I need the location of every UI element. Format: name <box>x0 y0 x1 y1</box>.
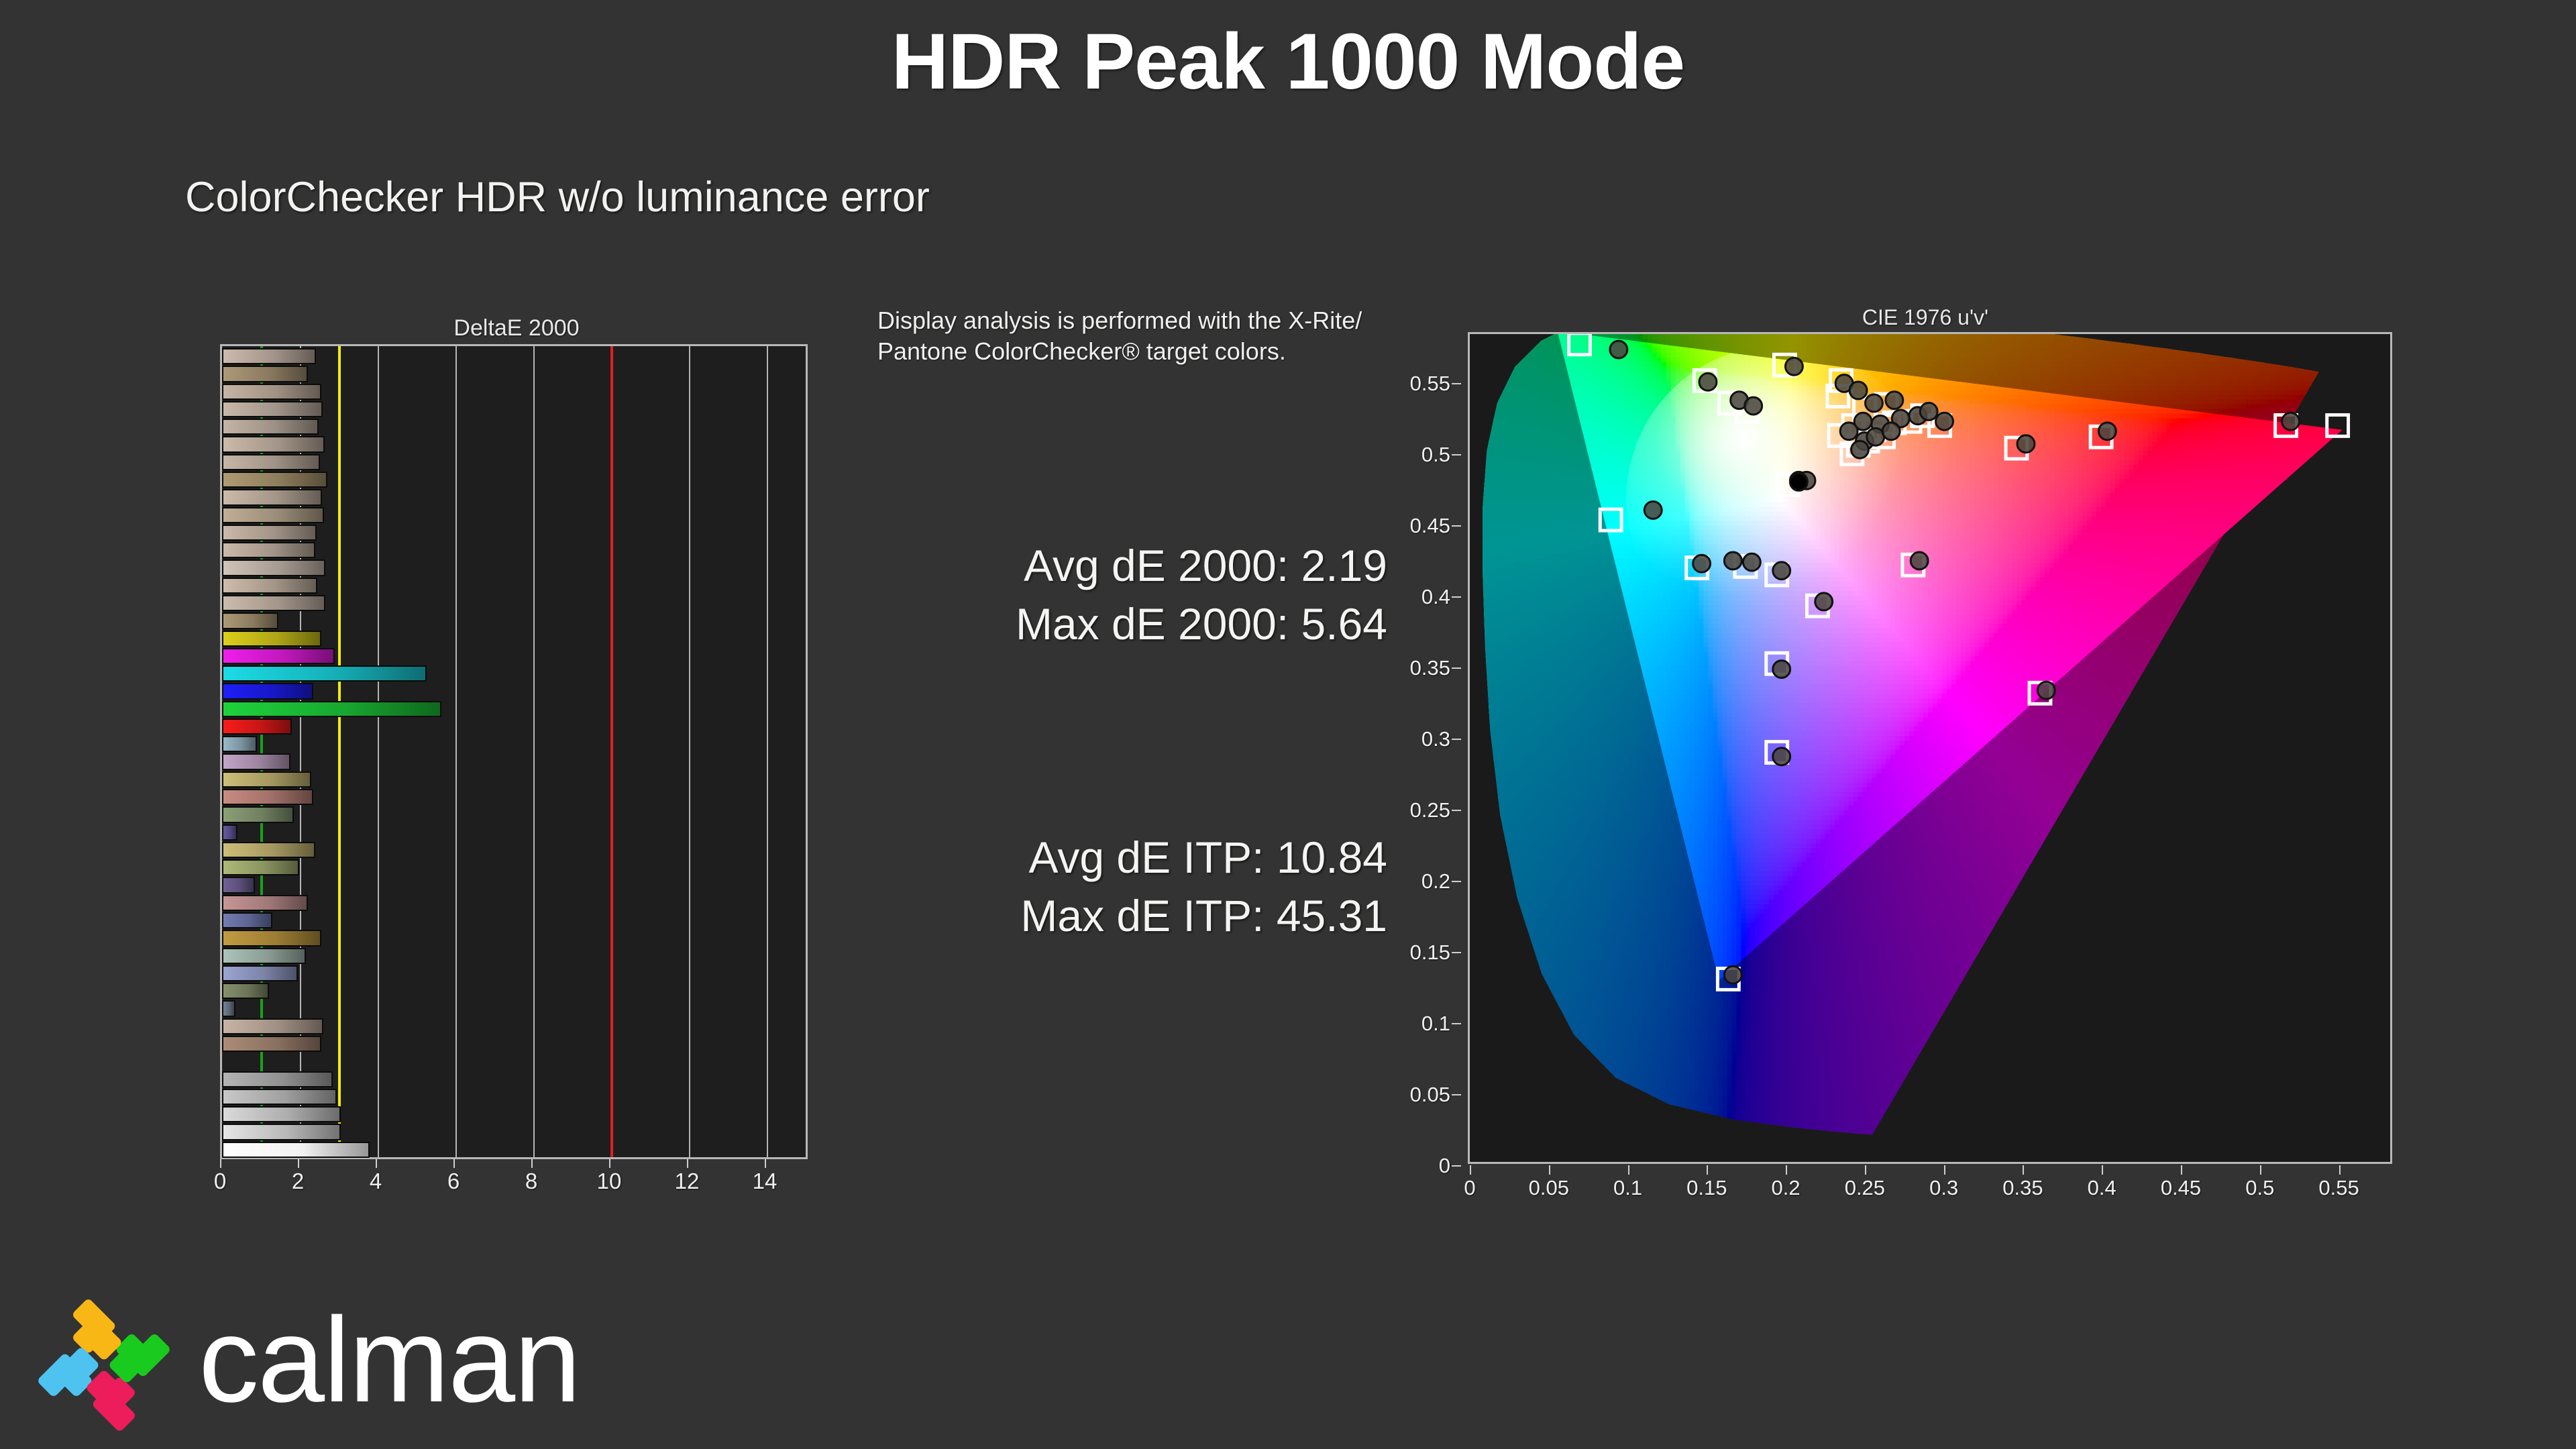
deltae-bar-row <box>222 630 806 647</box>
deltae-bar <box>222 419 319 435</box>
deltae-bar <box>222 1036 321 1052</box>
deltae-bar-row <box>222 488 806 506</box>
deltae-tick <box>687 1159 688 1168</box>
cie-y-tick-label: 0.55 <box>1410 372 1450 396</box>
deltae-chart-title: DeltaE 2000 <box>215 315 818 341</box>
cie-y-tick <box>1452 596 1461 598</box>
cie-x-tick <box>1944 1165 1945 1175</box>
deltae-bar <box>222 948 306 964</box>
cie-y-tick <box>1452 667 1461 669</box>
deltae-bar-row <box>222 700 806 718</box>
cie-measured-marker <box>1724 966 1741 983</box>
deltae-2000-panel: DeltaE 2000 02468101214 <box>215 315 818 1207</box>
cie-measured-marker <box>1911 552 1928 570</box>
deltae-bars <box>222 347 806 1157</box>
cie-measured-marker <box>2098 423 2116 440</box>
deltae-tick-label: 2 <box>292 1169 304 1194</box>
deltae-bar-row <box>222 1123 806 1140</box>
deltae-bar-row <box>222 435 806 453</box>
deltae-bar-row <box>222 577 806 594</box>
cie-plot-area <box>1468 332 2392 1164</box>
deltae-bar-row <box>222 894 806 912</box>
cie-measured-marker <box>1693 555 1711 572</box>
cie-x-tick <box>1549 1165 1550 1175</box>
deltae-bar <box>222 489 322 505</box>
deltae-bar-row <box>222 718 806 735</box>
deltae-bar <box>222 578 317 594</box>
deltae-tick-label: 0 <box>214 1169 226 1194</box>
deltae-bar <box>222 895 308 911</box>
cie-y-tick <box>1452 1023 1461 1024</box>
cie-x-tick-label: 0.1 <box>1613 1176 1642 1200</box>
cie-measured-marker <box>1610 341 1627 358</box>
deltae-bar-row <box>222 524 806 541</box>
deltae-bar <box>222 612 278 629</box>
cie-chart-title: CIE 1976 u'v' <box>1469 305 2381 330</box>
analysis-note-line-2: Pantone ColorChecker® target colors. <box>877 337 1286 365</box>
cie-1976-panel: CIE 1976 u'v' 00.050.10.150.20.250.30.35… <box>1362 305 2408 1211</box>
cie-x-tick-label: 0.05 <box>1529 1176 1569 1200</box>
deltae-bar-row <box>222 982 806 1000</box>
cie-measured-marker <box>1886 392 1903 409</box>
deltae-bar <box>222 983 269 999</box>
cie-measured-marker <box>1851 441 1869 458</box>
deltae-bar-row <box>222 559 806 576</box>
deltae-bar-row <box>222 594 806 612</box>
analysis-note-line-1: Display analysis is performed with the X… <box>877 307 1362 334</box>
deltae-bar-row <box>222 1088 806 1106</box>
cie-measured-marker <box>2037 682 2055 699</box>
deltae-bar <box>222 384 321 400</box>
deltae-tick-label: 8 <box>525 1169 537 1194</box>
cie-y-tick <box>1452 810 1461 811</box>
cie-x-tick-label: 0.55 <box>2318 1176 2359 1200</box>
cie-x-tick <box>2023 1165 2024 1175</box>
cie-diagram-svg <box>1470 334 2390 1162</box>
deltae-bar <box>222 401 323 417</box>
cie-y-tick <box>1452 739 1461 740</box>
cie-y-tick <box>1452 881 1461 882</box>
deltae-bar <box>222 789 313 805</box>
cie-x-tick <box>1628 1165 1629 1175</box>
deltae-bar <box>222 1071 333 1087</box>
deltae-bar <box>222 912 272 928</box>
deltae-tick <box>298 1159 299 1168</box>
deltae-bar <box>222 753 290 769</box>
deltae-bar <box>222 507 324 523</box>
deltae-tick-label: 10 <box>597 1169 622 1194</box>
cie-measured-marker <box>1745 397 1762 415</box>
cie-x-axis-labels: 00.050.10.150.20.250.30.350.40.450.50.55 <box>1468 1176 2392 1210</box>
deltae-bar <box>222 842 315 858</box>
deltae-bar <box>222 1018 323 1034</box>
deltae-bar-row <box>222 347 806 365</box>
deltae-bar <box>222 595 325 611</box>
cie-measured-marker <box>1699 373 1717 390</box>
deltae-tick <box>220 1159 221 1168</box>
cie-y-tick-label: 0.3 <box>1421 727 1450 751</box>
cie-measured-marker <box>1882 423 1900 440</box>
deltae-bar-row <box>222 506 806 524</box>
deltae-tick <box>376 1159 377 1168</box>
cie-y-tick-label: 0.35 <box>1410 656 1450 680</box>
deltae-bar-row <box>222 1141 806 1159</box>
deltae-bar <box>222 1106 341 1122</box>
deltae-bar-row <box>222 947 806 965</box>
cie-x-tick <box>2181 1165 2182 1175</box>
cie-measured-marker <box>2017 435 2035 453</box>
cie-measured-marker <box>1785 358 1803 375</box>
cie-y-tick <box>1452 383 1461 384</box>
deltae-bar <box>222 1124 341 1140</box>
deltae-bar-row <box>222 383 806 400</box>
calman-wordmark: calman <box>199 1300 580 1421</box>
cie-x-tick-label: 0.25 <box>1845 1176 1885 1200</box>
deltae-bar <box>222 1089 337 1105</box>
cie-y-tick-label: 0 <box>1439 1154 1450 1178</box>
cie-measured-marker <box>1815 593 1833 610</box>
deltae-bar <box>222 806 294 822</box>
cie-x-tick-label: 0.35 <box>2002 1176 2043 1200</box>
deltae-bar <box>222 559 325 576</box>
deltae-tick-label: 6 <box>447 1169 460 1194</box>
calman-diamond-logo-icon <box>32 1293 176 1438</box>
cie-x-tick <box>1470 1165 1471 1175</box>
deltae-bar <box>222 1000 235 1016</box>
deltae-tick <box>765 1159 766 1168</box>
page-title: HDR Peak 1000 Mode <box>0 16 2576 107</box>
deltae-bar-row <box>222 806 806 823</box>
deltae-tick <box>531 1159 533 1168</box>
deltae-bar <box>222 824 237 841</box>
deltae-bar <box>222 348 316 364</box>
cie-y-tick-label: 0.45 <box>1410 514 1450 538</box>
cie-x-tick-label: 0.45 <box>2161 1176 2201 1200</box>
cie-measured-marker <box>1773 748 1790 765</box>
deltae-bar-row <box>222 471 806 488</box>
deltae-bar <box>222 525 317 541</box>
cie-measured-marker <box>1724 552 1741 570</box>
cie-measured-marker <box>1840 423 1858 440</box>
cie-x-tick <box>2339 1165 2341 1175</box>
deltae-x-axis-labels: 02468101214 <box>220 1169 808 1202</box>
calman-report-page: HDR Peak 1000 Mode ColorChecker HDR w/o … <box>0 0 2576 1449</box>
deltae-bar <box>222 454 320 470</box>
deltae-plot-area <box>220 344 808 1159</box>
deltae-bar-row <box>222 788 806 806</box>
cie-y-tick-label: 0.5 <box>1421 443 1450 467</box>
analysis-info-block: Display analysis is performed with the X… <box>877 305 1387 367</box>
cie-x-tick-label: 0.15 <box>1686 1176 1727 1200</box>
cie-x-tick <box>2260 1165 2261 1175</box>
deltae-bar <box>222 648 335 664</box>
deltae-bar <box>222 1142 370 1158</box>
deltae-bar <box>222 366 308 382</box>
cie-measured-marker <box>1866 394 1883 412</box>
cie-x-tick-label: 0.3 <box>1929 1176 1958 1200</box>
cie-measured-marker <box>1644 501 1662 519</box>
cie-y-axis-labels: 00.050.10.150.20.250.30.350.40.450.50.55 <box>1362 332 1462 1164</box>
deltae-tick-label: 14 <box>753 1169 777 1194</box>
deltae-bar <box>222 736 257 752</box>
cie-y-tick-label: 0.25 <box>1410 798 1450 822</box>
deltae-bar-row <box>222 1071 806 1088</box>
cie-x-tick-label: 0.5 <box>2245 1176 2274 1200</box>
deltae-bar-row <box>222 771 806 788</box>
deltae-bar-row <box>222 965 806 982</box>
deltae-bar-row <box>222 929 806 947</box>
max-de2000-metric: Max dE 2000: 5.64 <box>877 595 1387 653</box>
deltae-bar-row <box>222 647 806 665</box>
deltae-bar <box>222 859 299 875</box>
deltae-bar <box>222 665 427 682</box>
page-subtitle: ColorChecker HDR w/o luminance error <box>185 173 930 221</box>
deltae-bar-row <box>222 400 806 418</box>
cie-y-tick-label: 0.1 <box>1421 1012 1450 1036</box>
de2000-metrics: Avg dE 2000: 2.19 Max dE 2000: 5.64 <box>877 537 1387 653</box>
cie-y-tick-label: 0.4 <box>1421 585 1450 609</box>
gamut-triangle <box>1470 334 2387 1162</box>
cie-y-tick <box>1452 525 1461 527</box>
deltae-bar <box>222 718 292 735</box>
avg-de2000-metric: Avg dE 2000: 2.19 <box>877 537 1387 595</box>
cie-x-tick-label: 0.2 <box>1772 1176 1801 1200</box>
cie-measured-marker <box>2282 413 2300 430</box>
deltae-bar-row <box>222 612 806 629</box>
max-deitp-metric: Max dE ITP: 45.31 <box>877 887 1387 945</box>
deltae-bar <box>222 683 313 699</box>
deltae-bar-row <box>222 824 806 841</box>
deltae-bar-row <box>222 541 806 559</box>
cie-measured-marker <box>1773 562 1790 580</box>
deltae-bar-row <box>222 365 806 382</box>
deltae-bar <box>222 631 321 647</box>
calman-logo: calman <box>32 1293 669 1438</box>
cie-y-tick <box>1452 952 1461 953</box>
cie-measured-marker <box>1936 413 1953 430</box>
deltae-bar-row <box>222 912 806 929</box>
deltae-tick <box>453 1159 455 1168</box>
cie-y-tick <box>1452 1165 1461 1167</box>
cie-y-tick <box>1452 454 1461 455</box>
deltae-bar <box>222 930 321 946</box>
deltae-bar-row <box>222 1053 806 1070</box>
cie-x-tick <box>2102 1165 2103 1175</box>
deltae-bar-row <box>222 1035 806 1053</box>
deltae-bar <box>222 877 255 893</box>
deltae-bar-row <box>222 682 806 700</box>
cie-measured-marker <box>1920 403 1937 421</box>
deltae-tick <box>609 1159 610 1168</box>
deltae-bar <box>222 472 327 488</box>
cie-measured-marker <box>1743 553 1760 571</box>
cie-x-tick <box>1786 1165 1787 1175</box>
deltae-bar <box>222 771 311 788</box>
deltae-bar-row <box>222 1018 806 1035</box>
deltae-bar <box>222 436 325 452</box>
deltae-bar <box>222 701 441 717</box>
deltae-bar <box>222 542 315 558</box>
cie-x-tick-label: 0 <box>1464 1176 1475 1200</box>
cie-y-tick-label: 0.2 <box>1421 869 1450 894</box>
cie-y-tick <box>1452 1094 1461 1095</box>
cie-y-tick-label: 0.05 <box>1410 1083 1450 1107</box>
deltae-bar-row <box>222 753 806 770</box>
deltae-bar-row <box>222 841 806 859</box>
deltae-bar-row <box>222 859 806 876</box>
cie-whitepoint-marker <box>1790 473 1807 490</box>
deltae-tick-label: 4 <box>370 1169 382 1194</box>
cie-y-tick-label: 0.15 <box>1410 941 1450 965</box>
cie-x-tick-label: 0.4 <box>2088 1176 2116 1200</box>
deltae-bar-row <box>222 1106 806 1123</box>
deltae-bar-row <box>222 418 806 435</box>
analysis-note: Display analysis is performed with the X… <box>877 305 1387 367</box>
deltae-bar-row <box>222 1000 806 1017</box>
avg-deitp-metric: Avg dE ITP: 10.84 <box>877 828 1387 887</box>
deltae-bar-row <box>222 876 806 894</box>
deltae-tick-label: 12 <box>675 1169 700 1194</box>
cie-x-tick <box>1707 1165 1708 1175</box>
deltae-bar <box>222 965 298 981</box>
cie-measured-marker <box>1773 661 1790 678</box>
deltae-bar-row <box>222 735 806 753</box>
deltae-bar-row <box>222 453 806 471</box>
cie-x-tick <box>1865 1165 1866 1175</box>
deltae-bar-row <box>222 665 806 682</box>
cie-measured-marker <box>1849 382 1867 399</box>
deitp-metrics: Avg dE ITP: 10.84 Max dE ITP: 45.31 <box>877 828 1387 945</box>
